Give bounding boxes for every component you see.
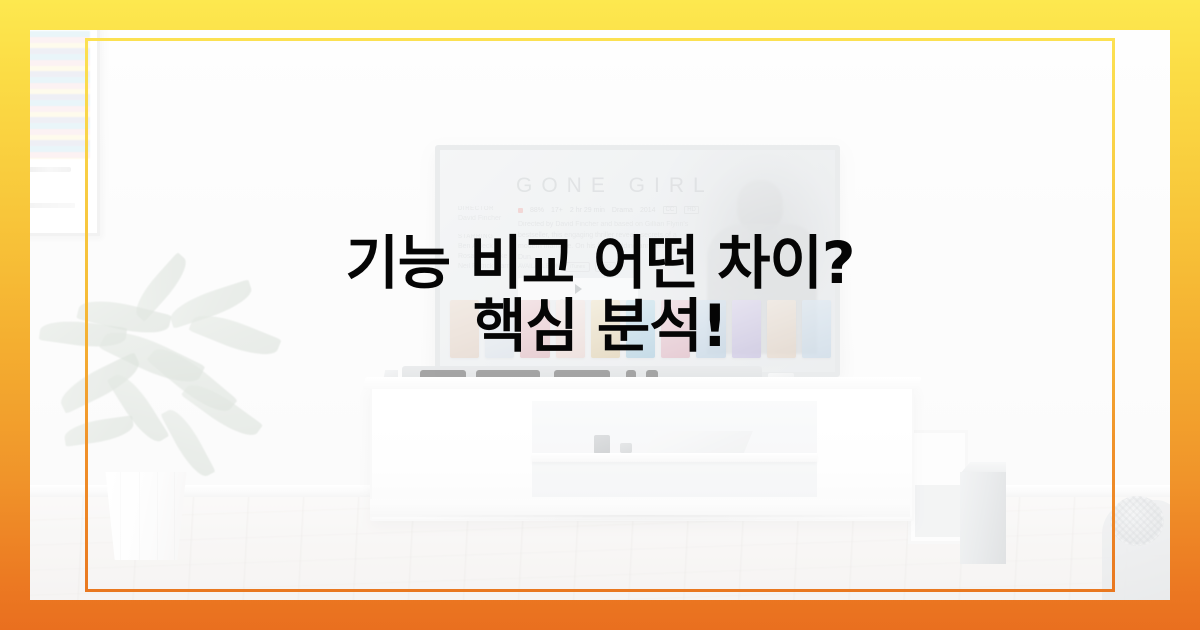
artwork-caption	[30, 203, 75, 208]
movie-meta-row: 88% 17+ 2 hr 29 min Drama 2014 CC HD	[518, 206, 699, 214]
artwork-signature	[30, 167, 71, 172]
remote-control	[594, 435, 610, 454]
potted-plant	[40, 270, 280, 560]
credit-value-2: Rosamund Pike	[458, 253, 507, 260]
meta-score: 88%	[530, 207, 544, 214]
small-device	[620, 443, 632, 453]
thumbnail-canvas: GONE GIRL 88% 17+ 2 hr 29 min Drama 2014…	[0, 0, 1200, 630]
wall-frame-right	[908, 430, 968, 544]
cc-badge-icon: CC	[663, 206, 678, 214]
score-dot	[518, 208, 523, 213]
framed-striped-artwork	[30, 30, 100, 236]
movie-title: GONE GIRL	[516, 174, 714, 198]
credit-label-starring: STARRING	[458, 234, 493, 240]
knit-cushion	[1110, 496, 1164, 546]
living-room-photo: GONE GIRL 88% 17+ 2 hr 29 min Drama 2014…	[30, 30, 1170, 600]
stand-shelf	[532, 453, 817, 462]
stand-shadow	[392, 515, 892, 523]
available-label: AVAILABLE ON	[518, 264, 560, 270]
floor-speaker	[960, 472, 1006, 564]
television: GONE GIRL 88% 17+ 2 hr 29 min Drama 2014…	[435, 145, 840, 377]
poster-7[interactable]	[661, 300, 690, 358]
poster-4[interactable]	[556, 300, 585, 358]
credit-label-director: DIRECTOR	[458, 206, 494, 212]
hd-badge-icon: HD	[684, 206, 699, 214]
meta-runtime: 2 hr 29 min	[570, 207, 605, 214]
play-button[interactable]	[518, 278, 638, 300]
stand-top-surface	[363, 377, 922, 389]
game-console	[645, 431, 753, 455]
tv-screen: GONE GIRL 88% 17+ 2 hr 29 min Drama 2014…	[440, 150, 835, 372]
poster-carousel[interactable]	[450, 300, 831, 358]
poster-5[interactable]	[591, 300, 620, 358]
poster-6[interactable]	[626, 300, 655, 358]
meta-year: 2014	[640, 207, 656, 214]
chip-itunes[interactable]: iTunes	[565, 262, 590, 272]
plant-pot	[100, 472, 192, 560]
meta-rating: 17+	[551, 207, 563, 214]
tv-stand	[370, 385, 914, 521]
poster-1[interactable]	[450, 300, 479, 358]
poster-10[interactable]	[767, 300, 796, 358]
poster-8[interactable]	[696, 300, 725, 358]
photo-plate: GONE GIRL 88% 17+ 2 hr 29 min Drama 2014…	[30, 30, 1170, 600]
poster-11[interactable]	[802, 300, 831, 358]
credit-value-director: David Fincher	[458, 215, 501, 222]
poster-2[interactable]	[485, 300, 514, 358]
chip-hbo[interactable]: HBO	[595, 262, 616, 272]
meta-genre: Drama	[612, 207, 633, 214]
poster-3[interactable]	[520, 300, 549, 358]
availability-row: AVAILABLE ON iTunes HBO	[518, 262, 616, 272]
play-icon	[575, 284, 582, 294]
credit-value-3: Neil Patrick Harris	[458, 263, 514, 270]
movie-synopsis: Directed by David Fincher and based on G…	[518, 220, 694, 263]
credit-value-1: Ben Affleck	[458, 243, 493, 250]
artwork-stripes	[30, 31, 90, 159]
poster-9[interactable]	[732, 300, 761, 358]
